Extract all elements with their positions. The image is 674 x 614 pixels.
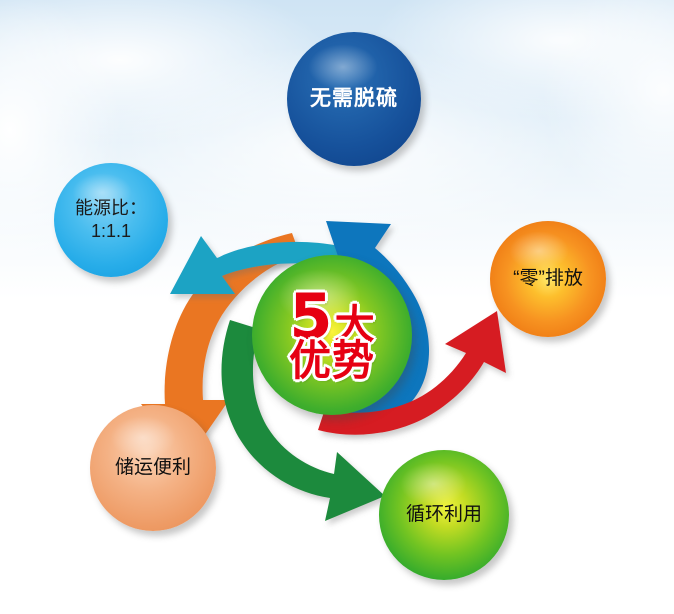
node-label-recycling: 循环利用 [400,503,488,527]
gloss-highlight [110,416,176,459]
gloss-highlight [509,231,569,270]
node-label-no-desulfurization: 无需脱硫 [304,86,404,113]
node-zero-emission[interactable]: “零”排放 [490,221,606,337]
node-label-zero-emission: “零”排放 [507,267,589,291]
node-label-energy-ratio: 能源比： 1:1.1 [69,197,153,243]
node-label-storage-transport: 储运便利 [109,456,197,480]
node-recycling[interactable]: 循环利用 [379,450,509,580]
node-no-desulfurization[interactable]: 无需脱硫 [287,32,421,166]
infographic-canvas: 无需脱硫 能源比： 1:1.1 “零”排放 储运便利 循环利用 5 大 优势 [0,0,674,614]
center-title-line2: 优势 [283,340,381,382]
gloss-highlight [400,462,468,506]
gloss-highlight [308,44,378,90]
center-hub[interactable]: 5 大 优势 [252,255,412,415]
energy-ratio-line1: 能源比： [75,198,147,218]
energy-ratio-line2: 1:1.1 [91,221,131,241]
node-energy-ratio[interactable]: 能源比： 1:1.1 [54,163,168,277]
node-storage-transport[interactable]: 储运便利 [90,405,216,531]
